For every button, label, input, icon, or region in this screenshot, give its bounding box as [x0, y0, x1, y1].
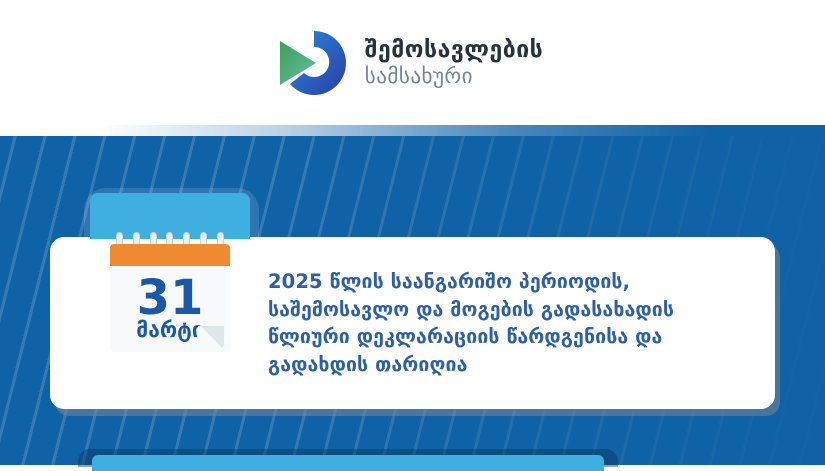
- calendar-day-number: 31: [137, 276, 204, 320]
- next-card-accent-panel[interactable]: [92, 455, 604, 471]
- calendar-icon: 31 მარტი: [104, 232, 236, 356]
- calendar-header-bar: [110, 244, 230, 266]
- announcement-headline: 2025 წლის საანგარიშო პერიოდის, საშემოსავ…: [268, 268, 753, 379]
- brand-text: შემოსავლების სამსახური: [365, 38, 544, 86]
- brand-lockup: შემოსავლების სამსახური: [274, 28, 544, 98]
- calendar-page-curl: [198, 326, 224, 348]
- calendar-month-label: მარტი: [136, 318, 203, 342]
- page-header: შემოსავლების სამსახური: [0, 0, 825, 125]
- brand-name-primary: შემოსავლების: [365, 38, 544, 62]
- brand-name-secondary: სამსახური: [365, 65, 544, 87]
- calendar-body: 31 მარტი: [110, 266, 230, 352]
- stage-top-fade: [0, 125, 825, 136]
- revenue-service-logo-icon: [274, 28, 348, 98]
